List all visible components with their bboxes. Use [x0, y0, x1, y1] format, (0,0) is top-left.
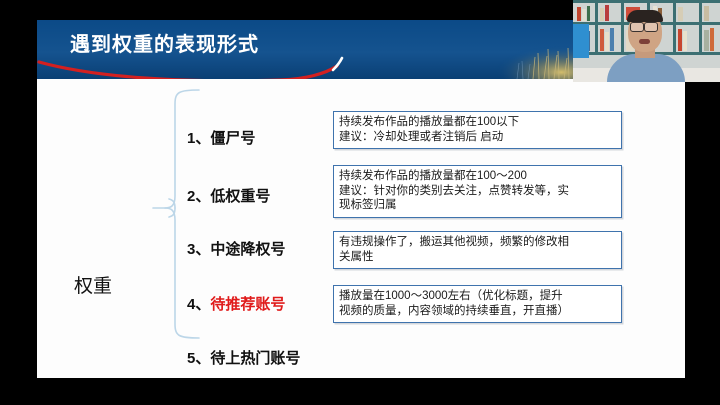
book — [600, 29, 604, 51]
book — [683, 31, 687, 51]
slide-body: 权重 1、僵尸号 2、低权重号 3、中途降权号 — [37, 79, 685, 378]
description-line: 关属性 — [339, 250, 616, 265]
presenter-hair — [627, 10, 663, 22]
book — [704, 30, 709, 51]
description-line: 持续发布作品的播放量都在100以下 — [339, 115, 616, 130]
presenter-mouth — [639, 39, 650, 44]
book — [582, 9, 586, 21]
window-light — [573, 24, 589, 58]
book — [678, 29, 682, 51]
eyeglasses-left-lens — [630, 22, 644, 32]
description-box: 有违规操作了，搬运其他视频，频繁的修改相 关属性 — [333, 231, 622, 269]
shelf-divider — [621, 0, 624, 55]
description-line: 建议：针对你的类别去关注，点赞转发等，实 — [339, 184, 616, 199]
book — [587, 6, 590, 21]
book — [704, 6, 709, 21]
shelf-divider — [673, 0, 676, 55]
description-box: 持续发布作品的播放量都在100以下 建议：冷却处理或者注销后 启动 — [333, 111, 622, 149]
description-box-group: 持续发布作品的播放量都在100以下 建议：冷却处理或者注销后 启动 持续发布作品… — [37, 79, 685, 378]
description-line: 有违规操作了，搬运其他视频，频繁的修改相 — [339, 235, 616, 250]
description-box: 播放量在1000～3000左右（优化标题，提升 视频的质量，内容领域的持续垂直，… — [333, 285, 622, 323]
description-line: 持续发布作品的播放量都在100～200 — [339, 169, 616, 184]
description-line: 现标签归属 — [339, 198, 616, 213]
shelf-divider — [595, 0, 598, 55]
book — [610, 28, 614, 51]
book — [577, 7, 581, 21]
book — [600, 8, 604, 21]
book — [710, 28, 714, 51]
description-line: 播放量在1000～3000左右（优化标题，提升 — [339, 289, 616, 304]
presenter-webcam-feed[interactable] — [573, 0, 720, 82]
book — [605, 5, 609, 21]
description-line: 建议：冷却处理或者注销后 启动 — [339, 130, 616, 145]
slide-title: 遇到权重的表现形式 — [70, 34, 259, 56]
shelf-divider — [699, 0, 702, 55]
description-line: 视频的质量，内容领域的持续垂直，开直播） — [339, 304, 616, 319]
book — [605, 32, 609, 51]
description-box: 持续发布作品的播放量都在100～200 建议：针对你的类别去关注，点赞转发等，实… — [333, 165, 622, 218]
red-underline-annotation — [37, 56, 347, 79]
eyeglasses-right-lens — [644, 22, 658, 32]
book — [678, 7, 683, 21]
video-frame: 遇到权重的表现形式 权重 1、僵尸号 — [0, 0, 720, 405]
